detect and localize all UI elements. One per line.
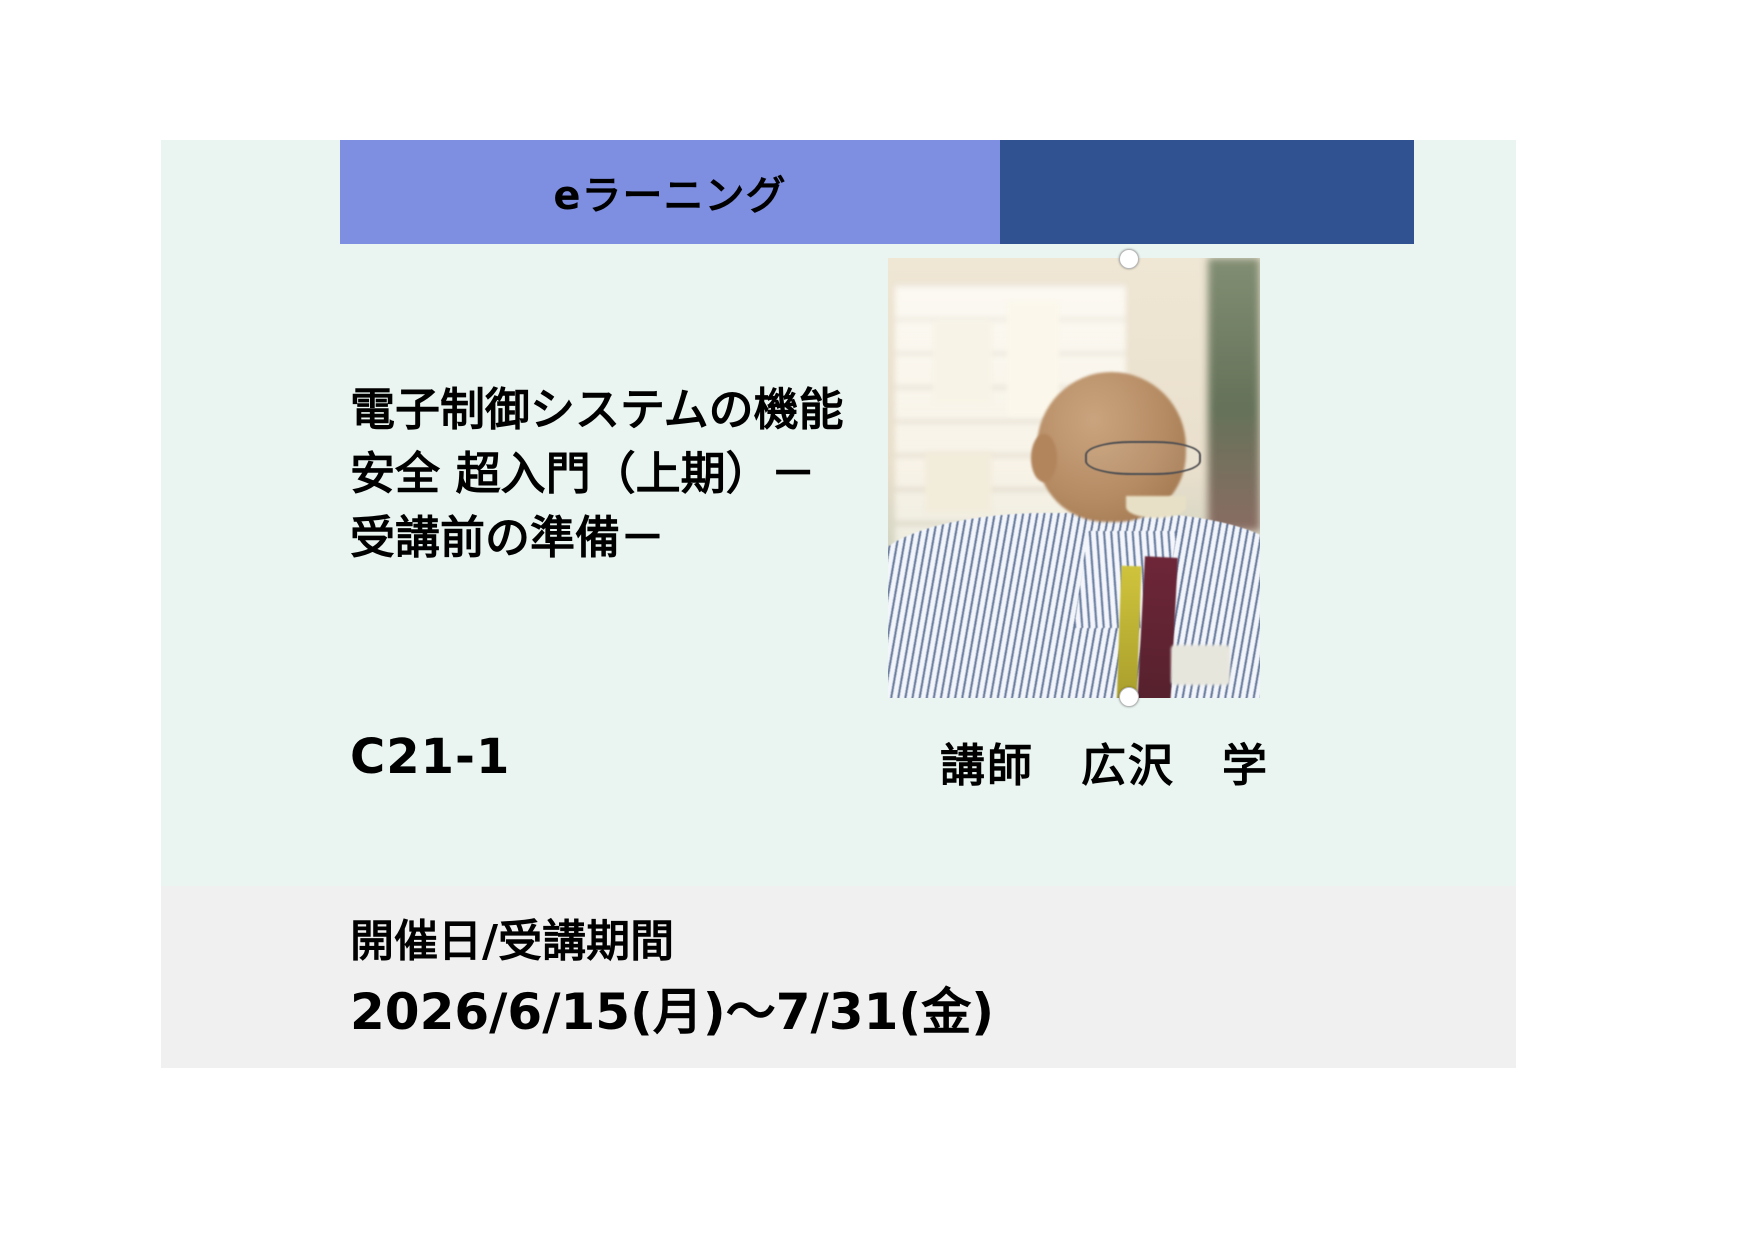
photo-note-1 — [933, 320, 993, 404]
instructor-photo — [888, 258, 1260, 698]
photo-wall-right — [1208, 258, 1260, 531]
course-code: C21-1 — [350, 729, 510, 785]
photo-note-2 — [1007, 302, 1059, 416]
selection-handle-bottom[interactable] — [1119, 687, 1139, 707]
instructor-name: 講師 広沢 学 — [940, 729, 1269, 794]
photo-note-3 — [925, 452, 992, 514]
photo-glasses — [1085, 441, 1201, 476]
selection-handle-top[interactable] — [1119, 249, 1139, 269]
photo-mouth — [1126, 496, 1186, 518]
schedule-range: 2026/6/15(月)〜7/31(金) — [350, 972, 994, 1044]
course-category-label: eラーニング — [340, 140, 1000, 244]
instructor-photo-frame[interactable] — [888, 258, 1260, 698]
schedule-label: 開催日/受講期間 — [350, 905, 674, 969]
course-title: 電子制御システムの機能 安全 超入門（上期）－ 受講前の準備－ — [350, 378, 910, 570]
banner-bar-dark — [1000, 140, 1414, 244]
slide-canvas: eラーニング 電子制御システムの機能 安全 超入門（上期）－ 受講前の準備－ C… — [0, 0, 1754, 1240]
photo-id-badge — [1171, 645, 1231, 685]
